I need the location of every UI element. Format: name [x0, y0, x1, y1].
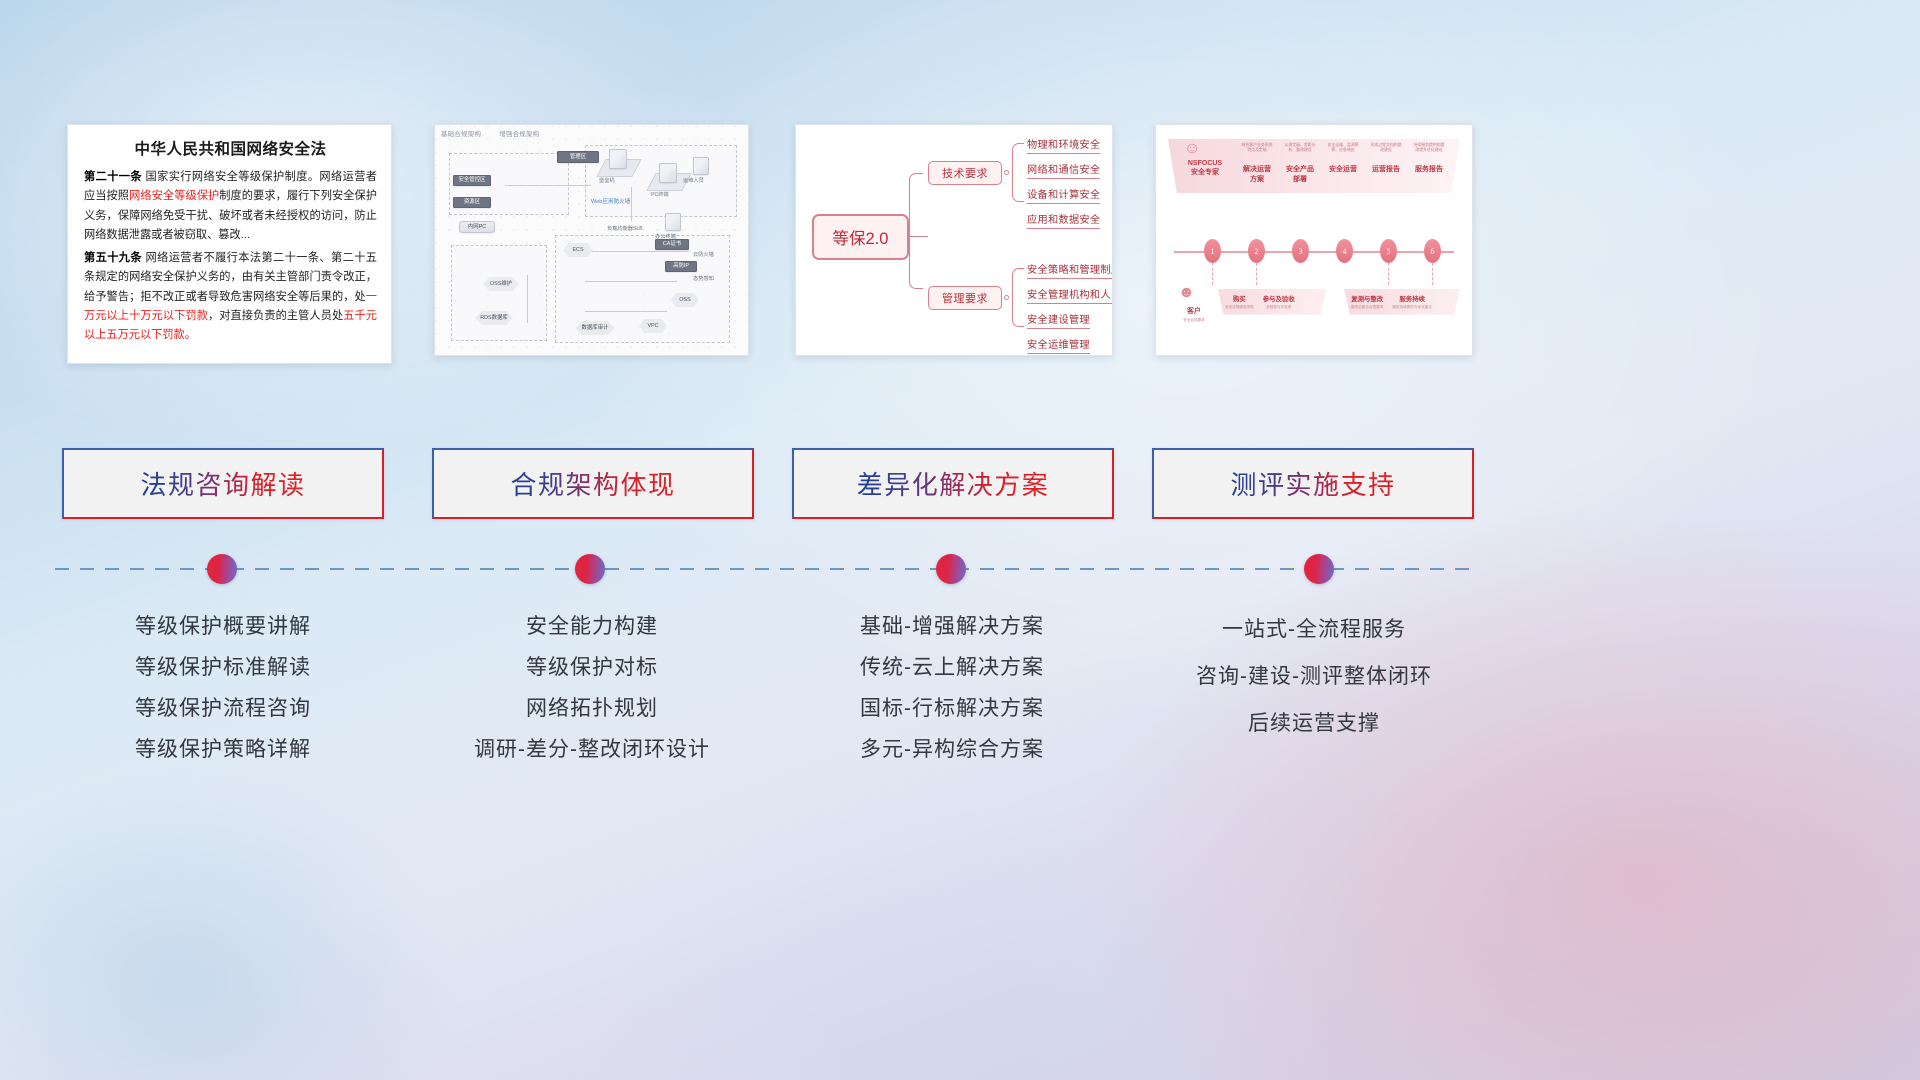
pillar-list-1: 安全能力构建 等级保护对标 网络拓扑规划 调研-差分-整改闭环设计	[412, 606, 772, 770]
architecture-node-11: CA证书	[655, 239, 689, 250]
list-item: 咨询-建设-测评整体闭环	[1134, 653, 1494, 700]
law-article-59-seg-2: ，对直接负责的主管人员处	[208, 310, 343, 322]
law-article-21-number: 第二十一条	[84, 171, 142, 183]
mindmap-branch-management-dot	[1004, 295, 1009, 300]
roadmap-step-5: 6	[1424, 239, 1441, 263]
architecture-node-2: 资源区	[453, 197, 491, 208]
roadmap-banner-column-2-top: 安全运维、监测预警、应急响应	[1326, 143, 1360, 153]
roadmap-banner-column-3: 形成过程文档和整改建设 运营报告	[1369, 143, 1403, 184]
architecture-node-0: 管理区	[557, 151, 599, 163]
roadmap-chip-left: 购买 安全合规服务采购 参与及验收 全程参与并验收	[1218, 289, 1326, 315]
architecture-node-icon-4	[665, 213, 681, 231]
architecture-link-2	[631, 187, 632, 221]
card-mindmap-dengbao[interactable]: 等保2.0 技术要求 物理和环境安全 网络和通信安全 设备和计算安全 应用和数据…	[795, 124, 1113, 356]
roadmap-banner-column-3-top: 形成过程文档和整改建设	[1369, 143, 1403, 153]
architecture-link-1	[505, 185, 591, 186]
architecture-link-5	[585, 311, 667, 312]
pillar-label-0: 法规咨询解读	[140, 465, 305, 502]
mindmap-branch-management: 管理要求	[928, 286, 1002, 310]
roadmap-step-4: 5	[1380, 239, 1397, 263]
roadmap-expert-line1: NSFOCUS	[1178, 159, 1232, 168]
architecture-node-12: 高防IP	[665, 261, 697, 272]
roadmap-banner-column-4-bottom: 服务报告	[1412, 164, 1446, 174]
architecture-header-right: 增强合规架构	[499, 131, 539, 138]
law-article-21: 第二十一条 国家实行网络安全等级保护制度。网络运营者应当按照网络安全等级保护制度…	[84, 168, 377, 245]
pillar-label-box-3[interactable]: 测评实施支持	[1152, 448, 1474, 519]
architecture-node-icon-3	[693, 157, 709, 175]
card-service-roadmap[interactable]: ☺ NSFOCUS 安全专家 结合客户业务系统特点及定级 解决运营方案 从测定级…	[1155, 124, 1473, 356]
architecture-zone-ops	[451, 245, 547, 341]
mindmap-leaf-tech-1: 网络和通信安全	[1027, 161, 1100, 179]
pillar-list-0: 等级保护概要讲解 等级保护标准解读 等级保护流程咨询 等级保护策略详解	[43, 606, 403, 770]
list-item: 等级保护流程咨询	[43, 688, 403, 729]
architecture-node-icon-2	[659, 163, 677, 183]
roadmap-chip-item-0-sub: 安全合规服务采购	[1225, 305, 1254, 310]
architecture-node-4: 内网PC	[459, 221, 495, 233]
expert-person-icon: ☺	[1184, 141, 1200, 157]
roadmap-banner-column-4: 持续服务提供和整改提升优化建议 服务报告	[1412, 143, 1446, 184]
list-item: 等级保护标准解读	[43, 647, 403, 688]
roadmap-expert-line2: 安全专家	[1178, 168, 1232, 177]
architecture-link-3	[585, 251, 689, 252]
mindmap-branch-technical: 技术要求	[928, 161, 1002, 185]
mindmap-management-spine	[1012, 268, 1024, 327]
roadmap-dash-2	[1388, 263, 1389, 285]
mindmap-root-stem	[909, 236, 928, 237]
architecture-diagram: 基础合规架构 增强合规架构 管理区 安全管控区 资源区	[435, 125, 748, 355]
roadmap-banner-column-0: 结合客户业务系统特点及定级 解决运营方案	[1240, 143, 1274, 184]
roadmap-banner-column-4-top: 持续服务提供和整改提升优化建议	[1412, 143, 1446, 153]
architecture-node-18: 云防火墙	[693, 251, 714, 258]
timeline-dot-3[interactable]	[1304, 554, 1334, 584]
roadmap-expert: NSFOCUS 安全专家	[1178, 159, 1232, 178]
list-item: 多元-异构综合方案	[772, 729, 1132, 770]
pillar-label-2: 差异化解决方案	[857, 465, 1050, 502]
roadmap-chip-right: 复测与整改 整改后复合合规要求 服务持续 服务持续提供与优化建议	[1344, 289, 1460, 315]
mindmap-branch-technical-dot	[1004, 170, 1009, 175]
roadmap-customer: 客户 安全合规要求	[1170, 307, 1218, 323]
architecture-node-15: 数据库审计	[575, 321, 615, 335]
list-item: 基础-增强解决方案	[772, 606, 1132, 647]
roadmap-banner-column-1-bottom: 安全产品部署	[1283, 164, 1317, 184]
list-item: 传统-云上解决方案	[772, 647, 1132, 688]
roadmap-chip-item-1-sub: 全程参与并验收	[1263, 305, 1295, 310]
roadmap-step-0: 1	[1204, 239, 1221, 263]
pillar-label-3: 测评实施支持	[1230, 465, 1395, 502]
list-item: 等级保护对标	[412, 647, 772, 688]
roadmap-step-2: 3	[1292, 239, 1309, 263]
roadmap-dash-3	[1432, 263, 1433, 285]
architecture-node-16: VPC	[639, 319, 667, 333]
pillar-label-1: 合规架构体现	[510, 465, 675, 502]
timeline-dot-2[interactable]	[936, 554, 966, 584]
law-article-21-seg-1: 网络安全等级保护	[129, 190, 219, 202]
roadmap-banner-column-3-bottom: 运营报告	[1369, 164, 1403, 174]
architecture-header: 基础合规架构 增强合规架构	[441, 129, 555, 138]
pillar-label-box-1[interactable]: 合规架构体现	[432, 448, 754, 519]
list-item: 安全能力构建	[412, 606, 772, 647]
architecture-node-10: ECS	[563, 243, 593, 257]
architecture-node-6: 运维人员	[683, 177, 704, 184]
timeline-dot-0[interactable]	[207, 554, 237, 584]
card-cybersecurity-law[interactable]: 中华人民共和国网络安全法 第二十一条 国家实行网络安全等级保护制度。网络运营者应…	[67, 124, 392, 364]
roadmap-banner-column-0-bottom: 解决运营方案	[1240, 164, 1274, 184]
slide-canvas: 中华人民共和国网络安全法 第二十一条 国家实行网络安全等级保护制度。网络运营者应…	[0, 0, 1920, 1080]
mindmap-leaf-mgmt-1: 安全管理机构和人员	[1027, 286, 1113, 304]
architecture-node-icon-1	[609, 149, 627, 169]
mindmap-leaf-tech-2: 设备和计算安全	[1027, 186, 1100, 204]
architecture-link-4	[585, 281, 677, 282]
roadmap-customer-line2: 安全合规要求	[1170, 318, 1218, 323]
architecture-header-left: 基础合规架构	[441, 131, 481, 138]
architecture-node-3: 堡垒机	[599, 177, 615, 184]
roadmap-dash-0	[1212, 263, 1213, 285]
law-article-59: 第五十九条 网络运营者不履行本法第二十一条、第二十五条规定的网络安全保护义务的，…	[84, 249, 377, 345]
architecture-link-6	[527, 275, 528, 323]
list-item: 调研-差分-整改闭环设计	[412, 729, 772, 770]
mindmap-root-spine	[909, 173, 923, 289]
screenshot-cards-row: 中华人民共和国网络安全法 第二十一条 国家实行网络安全等级保护制度。网络运营者应…	[0, 124, 1920, 366]
list-item: 后续运营支撑	[1134, 700, 1494, 747]
roadmap-diagram: ☺ NSFOCUS 安全专家 结合客户业务系统特点及定级 解决运营方案 从测定级…	[1156, 125, 1472, 355]
architecture-node-8: Web应用防火墙	[591, 197, 630, 205]
roadmap-chip-item-1-title: 参与及验收	[1263, 294, 1295, 303]
mindmap-leaf-tech-0: 物理和环境安全	[1027, 136, 1100, 154]
roadmap-chip-item-2: 复测与整改 整改后复合合规要求	[1351, 294, 1383, 310]
architecture-node-19: 态势感知	[693, 275, 714, 282]
architecture-node-1: 安全管控区	[453, 175, 491, 186]
mindmap-technical-spine	[1012, 143, 1024, 202]
pillar-list-3: 一站式-全流程服务 咨询-建设-测评整体闭环 后续运营支撑	[1134, 606, 1494, 747]
card-compliance-architecture[interactable]: 基础合规架构 增强合规架构 管理区 安全管控区 资源区	[434, 124, 749, 356]
roadmap-chip-item-3-sub: 服务持续提供与优化建议	[1392, 305, 1432, 310]
list-item: 网络拓扑规划	[412, 688, 772, 729]
list-item: 一站式-全流程服务	[1134, 606, 1494, 653]
roadmap-banner-column-1: 从测定级、差距分析、整改建设 安全产品部署	[1283, 143, 1317, 184]
mindmap-root: 等保2.0	[812, 214, 909, 260]
list-item: 国标-行标解决方案	[772, 688, 1132, 729]
customer-person-icon: ☻	[1178, 285, 1195, 301]
pillar-label-box-0[interactable]: 法规咨询解读	[62, 448, 384, 519]
architecture-node-14: RDS数据库	[475, 311, 513, 325]
roadmap-chip-item-0: 购买 安全合规服务采购	[1225, 294, 1254, 310]
timeline-dashed-line	[55, 568, 1475, 570]
roadmap-banner-columns: 结合客户业务系统特点及定级 解决运营方案 从测定级、差距分析、整改建设 安全产品…	[1240, 143, 1446, 184]
mindmap-leaf-tech-3: 应用和数据安全	[1027, 211, 1100, 229]
roadmap-chip-item-1: 参与及验收 全程参与并验收	[1263, 294, 1295, 310]
architecture-node-13: OSS维护	[483, 277, 519, 291]
roadmap-chip-item-0-title: 购买	[1225, 294, 1254, 303]
roadmap-banner-column-2: 安全运维、监测预警、应急响应 安全运营	[1326, 143, 1360, 184]
roadmap-banner-column-2-bottom: 安全运营	[1326, 164, 1360, 174]
roadmap-dash-1	[1256, 263, 1257, 285]
roadmap-chip-item-3-title: 服务持续	[1392, 294, 1432, 303]
roadmap-step-3: 4	[1336, 239, 1353, 263]
roadmap-step-1: 2	[1248, 239, 1265, 263]
roadmap-banner-column-1-top: 从测定级、差距分析、整改建设	[1283, 143, 1317, 153]
roadmap-customer-line1: 客户	[1170, 307, 1218, 316]
mindmap-leaf-mgmt-0: 安全策略和管理制度	[1027, 261, 1113, 279]
roadmap-chip-item-2-sub: 整改后复合合规要求	[1351, 305, 1383, 310]
list-item: 等级保护概要讲解	[43, 606, 403, 647]
roadmap-chip-item-2-title: 复测与整改	[1351, 294, 1383, 303]
pillar-label-box-2[interactable]: 差异化解决方案	[792, 448, 1114, 519]
mindmap: 等保2.0 技术要求 物理和环境安全 网络和通信安全 设备和计算安全 应用和数据…	[796, 125, 1112, 355]
mindmap-leaf-mgmt-2: 安全建设管理	[1027, 311, 1090, 329]
architecture-node-9: 负载均衡器SLB	[607, 225, 643, 232]
architecture-node-17: OSS	[671, 293, 699, 307]
pillar-list-2: 基础-增强解决方案 传统-云上解决方案 国标-行标解决方案 多元-异构综合方案	[772, 606, 1132, 770]
list-item: 等级保护策略详解	[43, 729, 403, 770]
law-article-59-number: 第五十九条	[84, 252, 142, 264]
law-title: 中华人民共和国网络安全法	[84, 137, 377, 159]
architecture-node-5: PC终端	[651, 191, 669, 198]
timeline-dot-1[interactable]	[575, 554, 605, 584]
roadmap-chip-item-3: 服务持续 服务持续提供与优化建议	[1392, 294, 1432, 310]
roadmap-banner-column-0-top: 结合客户业务系统特点及定级	[1240, 143, 1274, 153]
mindmap-leaf-mgmt-3: 安全运维管理	[1027, 336, 1090, 354]
